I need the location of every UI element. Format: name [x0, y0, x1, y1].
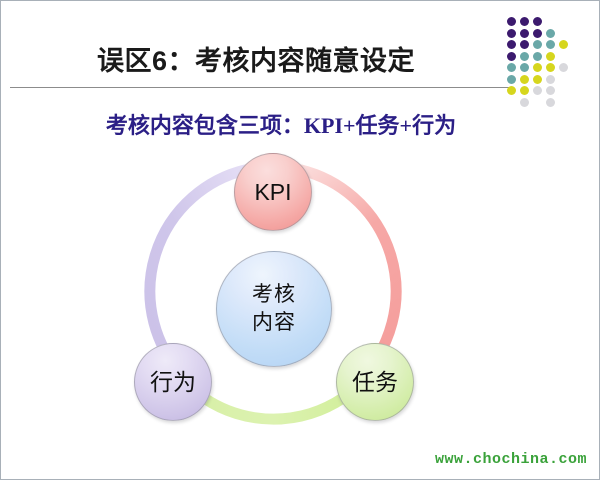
logo-dot [507, 29, 516, 38]
logo-dot [559, 40, 568, 49]
logo-dot [546, 40, 555, 49]
logo-dot [520, 17, 529, 26]
logo-dot [507, 75, 516, 84]
diagram-node-task-label: 任务 [352, 368, 398, 397]
logo-dot [546, 29, 555, 38]
logo-dot [533, 86, 542, 95]
diagram-node-kpi[interactable]: KPI [234, 153, 312, 231]
diagram-node-behavior[interactable]: 行为 [134, 343, 212, 421]
logo-dot [507, 63, 516, 72]
logo-dot [559, 63, 568, 72]
logo-dot [520, 63, 529, 72]
logo-dot [533, 29, 542, 38]
slide-subtitle: 考核内容包含三项：KPI+任务+行为 [1, 108, 561, 140]
diagram-node-behavior-label: 行为 [150, 368, 196, 397]
title-divider [10, 87, 512, 88]
logo-dot [546, 98, 555, 107]
logo-dot [546, 63, 555, 72]
logo-dot [546, 52, 555, 61]
logo-dot [520, 86, 529, 95]
arc-task-to-behavior [204, 398, 343, 419]
logo-dot [520, 75, 529, 84]
logo-dot [520, 40, 529, 49]
diagram-node-task[interactable]: 任务 [336, 343, 414, 421]
dot-grid-logo-icon [507, 17, 589, 109]
logo-dot [533, 40, 542, 49]
logo-dot [546, 86, 555, 95]
logo-dot [533, 17, 542, 26]
logo-dot [520, 29, 529, 38]
logo-dot [507, 86, 516, 95]
logo-dot [520, 52, 529, 61]
diagram-center-node-label: 考核 内容 [252, 280, 296, 339]
logo-dot [507, 40, 516, 49]
center-label-line-2: 内容 [252, 310, 296, 336]
diagram-node-kpi-label: KPI [254, 178, 291, 207]
logo-dot [520, 98, 529, 107]
cycle-diagram: KPI 任务 行为 考核 内容 [121, 151, 481, 441]
logo-dot [533, 75, 542, 84]
center-label-line-1: 考核 [252, 282, 296, 308]
slide-canvas: 误区6：考核内容随意设定 考核内容包含三项：KPI+任务+行为 [0, 0, 600, 480]
logo-dot [533, 63, 542, 72]
watermark: www.chochina.com [435, 451, 587, 468]
logo-dot [533, 52, 542, 61]
diagram-center-node[interactable]: 考核 内容 [216, 251, 332, 367]
logo-dot [507, 52, 516, 61]
logo-dot [546, 75, 555, 84]
page-title: 误区6：考核内容随意设定 [1, 39, 511, 78]
logo-dot [507, 17, 516, 26]
